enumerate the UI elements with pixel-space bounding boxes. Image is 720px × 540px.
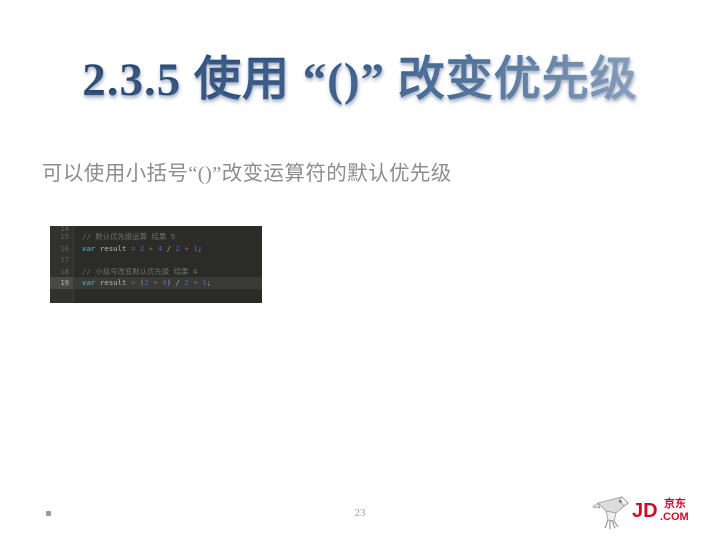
slide-title-container: 2.3.5 使用 “()” 改变优先级 — [0, 52, 720, 109]
svg-text:京东: 京东 — [664, 496, 686, 510]
code-line-number: 16 — [50, 243, 73, 255]
code-line-text: var result = 2 + 4 / 2 + 1; — [73, 243, 202, 255]
code-screenshot: 1415// 默认优先级运算 结果 516var result = 2 + 4 … — [50, 226, 262, 303]
code-line-text: // 小括号改变默认优先级 结果 4 — [73, 266, 197, 278]
jd-logo: JD 京东 .COM — [592, 493, 704, 531]
code-line-number: 17 — [50, 254, 73, 266]
jd-logo-icon: JD 京东 .COM — [592, 493, 704, 531]
code-line-text: var result = (2 + 4) / 2 + 1; — [73, 277, 211, 289]
code-token-comment: // 默认优先级运算 结果 5 — [82, 232, 175, 241]
code-line-number: 15 — [50, 231, 73, 243]
code-line: 15// 默认优先级运算 结果 5 — [50, 231, 262, 243]
code-token-var: result — [100, 278, 127, 287]
code-token-punc: ; — [198, 244, 202, 253]
code-token-punc: ; — [207, 278, 211, 287]
code-token-var: result — [100, 244, 127, 253]
code-line-text: // 默认优先级运算 结果 5 — [73, 231, 175, 243]
code-token-comment: // 小括号改变默认优先级 结果 4 — [82, 267, 197, 276]
slide-canvas: 2.3.5 使用 “()” 改变优先级 可以使用小括号“()”改变运算符的默认优… — [0, 0, 720, 540]
code-line: 17 — [50, 254, 262, 266]
code-token-kw: var — [82, 278, 95, 287]
code-token-kw: var — [82, 244, 95, 253]
svg-text:.COM: .COM — [660, 511, 689, 523]
code-line: 18// 小括号改变默认优先级 结果 4 — [50, 266, 262, 278]
code-line-number: 18 — [50, 266, 73, 278]
code-line-number: 19 — [50, 277, 73, 289]
svg-text:JD: JD — [632, 500, 658, 522]
code-line: 19var result = (2 + 4) / 2 + 1; — [50, 277, 262, 289]
code-line-list: 1415// 默认优先级运算 结果 516var result = 2 + 4 … — [50, 226, 262, 289]
code-line: 16var result = 2 + 4 / 2 + 1; — [50, 243, 262, 255]
body-paragraph: 可以使用小括号“()”改变运算符的默认优先级 — [42, 160, 452, 190]
page-title: 2.3.5 使用 “()” 改变优先级 — [82, 52, 638, 109]
